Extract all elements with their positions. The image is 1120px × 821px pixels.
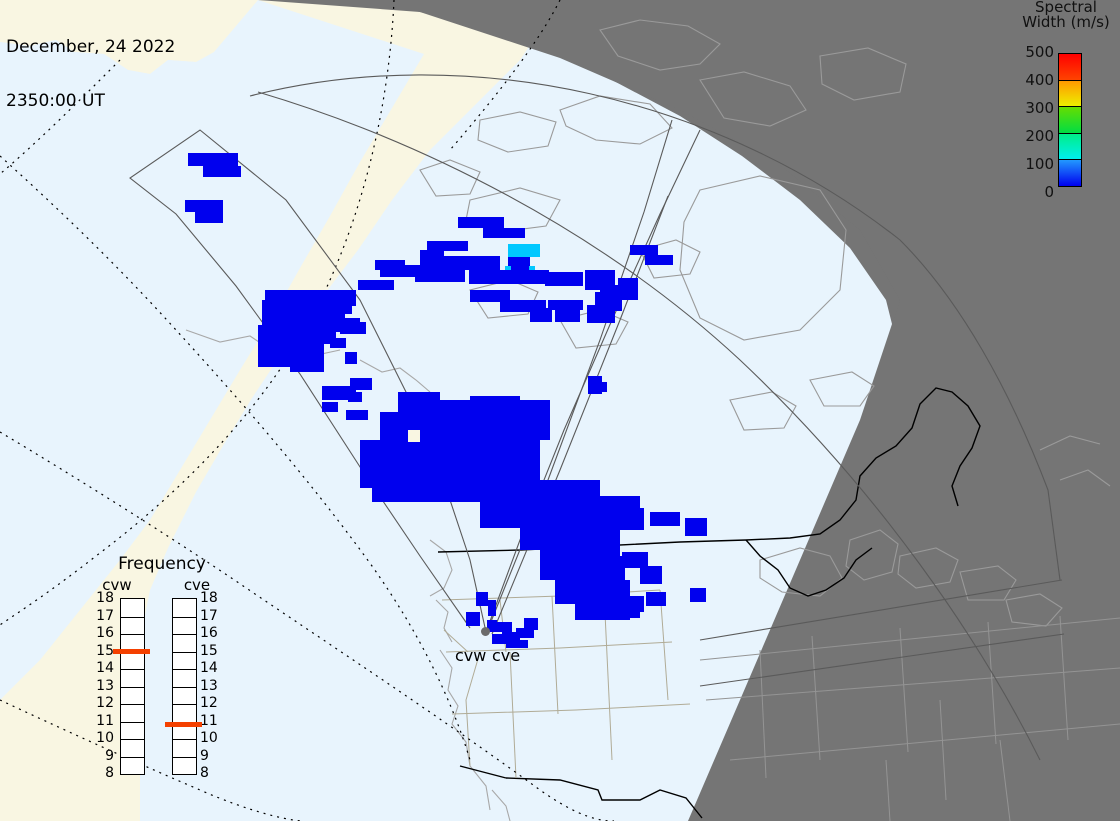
colorbar-band-400-500 <box>1059 54 1081 81</box>
gauge-tick-label-cvw-12: 12 <box>90 696 114 710</box>
radar-site-label-cve: cve <box>492 648 520 664</box>
colorbar-band-100-200 <box>1059 134 1081 161</box>
scatter-cell <box>618 278 638 300</box>
scatter-cell <box>483 228 525 238</box>
gauge-tick-line-cvw-16 <box>121 634 144 635</box>
gauge-tick-line-cvw-11 <box>121 722 144 723</box>
scatter-cell <box>548 300 583 310</box>
gauge-tick-line-cvw-12 <box>121 704 144 705</box>
scatter-cell <box>322 402 338 412</box>
scatter-cell <box>476 592 488 606</box>
scatter-cell <box>622 552 648 568</box>
scatter-cell <box>466 612 480 626</box>
gauge-tick-line-cve-13 <box>173 687 196 688</box>
frequency-gauge-cvw[interactable]: cvw18171615141312111098 <box>82 578 152 794</box>
frequency-panel: Frequency cvw18171615141312111098 cve181… <box>82 556 242 796</box>
gauge-tick-label-cve-9: 9 <box>200 749 224 763</box>
scatter-cell <box>469 270 549 284</box>
gauge-tick-label-cve-14: 14 <box>200 661 224 675</box>
scatter-cell <box>511 262 529 270</box>
scatter-cell <box>350 378 372 390</box>
scatter-cell <box>496 622 512 632</box>
scatter-cell <box>440 256 500 270</box>
gauge-tick-label-cve-13: 13 <box>200 679 224 693</box>
scatter-cell <box>555 310 580 322</box>
gauge-tick-line-cve-15 <box>173 652 196 653</box>
frequency-gauge-cve[interactable]: cve18171615141312111098 <box>162 578 232 794</box>
gauge-tick-label-cve-10: 10 <box>200 731 224 745</box>
scatter-cell <box>614 508 644 530</box>
gauge-scale-cvw[interactable] <box>120 598 145 775</box>
scatter-cell <box>427 241 468 251</box>
colorbar: Spectral Width (m/s) 5004003002001000 <box>1012 0 1120 200</box>
scatter-cell <box>458 217 504 228</box>
radar-site-label-cvw: cvw <box>455 648 486 664</box>
scatter-cell <box>604 604 640 618</box>
scatter-cell <box>488 600 496 616</box>
scatter-cell <box>530 308 552 322</box>
frequency-panel-title: Frequency <box>82 556 242 573</box>
scatter-cell <box>188 153 238 166</box>
scatter-cell <box>545 272 583 286</box>
gauge-scale-cve[interactable] <box>172 598 197 775</box>
gauge-tick-line-cvw-9 <box>121 757 144 758</box>
scatter-cell <box>340 322 366 334</box>
colorbar-tick-500: 500 <box>1012 45 1054 60</box>
gauge-tick-label-cve-18: 18 <box>200 591 224 605</box>
scatter-cell <box>348 392 362 402</box>
gauge-tick-label-cve-11: 11 <box>200 714 224 728</box>
colorbar-tick-300: 300 <box>1012 101 1054 116</box>
scatter-cell <box>290 342 324 372</box>
gauge-tick-label-cvw-13: 13 <box>90 679 114 693</box>
scatter-cell <box>346 410 368 420</box>
colorbar-tick-200: 200 <box>1012 129 1054 144</box>
gauge-tick-label-cve-15: 15 <box>200 644 224 658</box>
scatter-cell <box>640 566 662 584</box>
radar-map-canvas: December, 24 2022 2350:00 UT Spectral Wi… <box>0 0 1120 821</box>
scatter-cell <box>203 166 241 177</box>
gauge-tick-line-cve-16 <box>173 634 196 635</box>
colorbar-band-200-300 <box>1059 107 1081 134</box>
scatter-cell <box>595 382 607 392</box>
scatter-cell <box>524 618 538 630</box>
gauge-tick-line-cve-12 <box>173 704 196 705</box>
colorbar-gradient <box>1058 53 1082 187</box>
gauge-tick-line-cve-9 <box>173 757 196 758</box>
scatter-cell <box>185 200 223 212</box>
scatter-cell <box>646 592 666 606</box>
gauge-marker-cve <box>165 722 202 727</box>
radar-site-marker[interactable] <box>481 627 490 636</box>
scatter-cell <box>650 512 680 526</box>
gauge-tick-line-cvw-13 <box>121 687 144 688</box>
scatter-cell <box>508 244 540 257</box>
colorbar-title-line2: Width (m/s) <box>1012 15 1120 30</box>
scatter-cell <box>415 270 465 282</box>
gauge-tick-label-cvw-14: 14 <box>90 661 114 675</box>
gauge-tick-label-cvw-8: 8 <box>90 766 114 780</box>
colorbar-tick-400: 400 <box>1012 73 1054 88</box>
scatter-cell <box>345 352 357 364</box>
scatter-cell <box>492 634 506 644</box>
scatter-cell <box>587 305 615 323</box>
gauge-tick-label-cvw-16: 16 <box>90 626 114 640</box>
scatter-cell <box>470 396 520 414</box>
gauge-tick-line-cvw-17 <box>121 617 144 618</box>
scatter-cell <box>408 430 420 442</box>
gauge-tick-label-cvw-9: 9 <box>90 749 114 763</box>
gauge-tick-label-cve-8: 8 <box>200 766 224 780</box>
scatter-cell <box>358 280 394 290</box>
gauge-marker-cvw <box>113 649 150 654</box>
timestamp-overlay: December, 24 2022 2350:00 UT <box>6 2 175 146</box>
colorbar-title: Spectral Width (m/s) <box>1012 0 1120 30</box>
colorbar-ticks: 5004003002001000 <box>1012 45 1054 193</box>
gauge-tick-line-cve-17 <box>173 617 196 618</box>
gauge-tick-label-cvw-10: 10 <box>90 731 114 745</box>
gauge-tick-label-cvw-15: 15 <box>90 644 114 658</box>
colorbar-tick-100: 100 <box>1012 157 1054 172</box>
colorbar-tick-0: 0 <box>1012 185 1054 200</box>
gauge-tick-line-cve-10 <box>173 739 196 740</box>
scatter-cell <box>375 260 405 270</box>
gauge-tick-line-cvw-14 <box>121 669 144 670</box>
scatter-cell <box>690 588 706 602</box>
scatter-cell <box>330 338 346 348</box>
timestamp-date: December, 24 2022 <box>6 38 175 56</box>
scatter-cell <box>630 245 658 255</box>
scatter-cell <box>322 300 352 314</box>
gauge-tick-label-cvw-18: 18 <box>90 591 114 605</box>
gauge-tick-label-cve-17: 17 <box>200 609 224 623</box>
colorbar-band-0-100 <box>1059 160 1081 186</box>
scatter-cell <box>645 255 673 265</box>
colorbar-band-300-400 <box>1059 81 1081 108</box>
gauge-tick-label-cvw-11: 11 <box>90 714 114 728</box>
scatter-cell <box>685 518 707 536</box>
timestamp-time: 2350:00 UT <box>6 92 175 110</box>
gauge-tick-line-cvw-10 <box>121 739 144 740</box>
scatter-cell <box>604 588 626 604</box>
scatter-cell <box>195 212 223 223</box>
gauge-tick-label-cvw-17: 17 <box>90 609 114 623</box>
gauge-tick-line-cve-14 <box>173 669 196 670</box>
gauge-tick-label-cve-12: 12 <box>200 696 224 710</box>
gauge-tick-label-cve-16: 16 <box>200 626 224 640</box>
